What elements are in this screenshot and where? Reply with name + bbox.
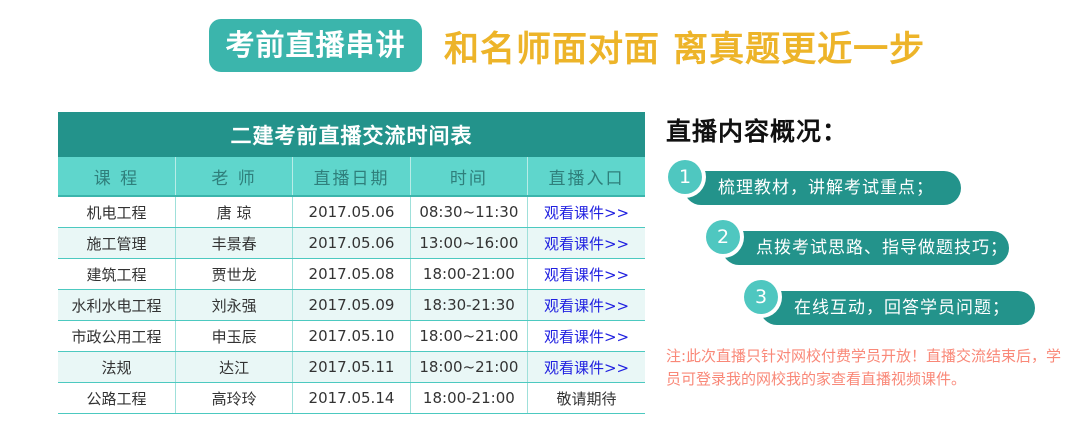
bubble-number-1: 1 [668,160,702,194]
header-banner: 考前直播串讲 和名师面对面 离真题更近一步 [0,0,1090,95]
watch-courseware-link[interactable]: 观看课件>> [544,204,629,222]
row-cell-teacher: 丰景春 [175,228,292,259]
row-cell-course: 机电工程 [58,196,175,228]
column-header-time: 时间 [410,157,527,196]
row-cell-teacher: 唐 琼 [175,196,292,228]
row-cell-date: 2017.05.09 [293,290,410,321]
live-content-panel: 直播内容概况： 1 梳理教材，讲解考试重点； 2 点拨考试思路、指导做题技巧； … [664,108,1084,408]
row-cell-time: 18:00~21:00 [410,352,527,383]
row-cell-teacher: 贾世龙 [175,259,292,290]
row-cell-teacher: 高玲玲 [175,383,292,414]
row-cell-date: 2017.05.11 [293,352,410,383]
row-cell-teacher: 申玉辰 [175,321,292,352]
live-schedule-table: 二建考前直播交流时间表 课 程 老 师 直播日期 时间 直播入口 机电工程唐 琼… [58,112,645,414]
table-title: 二建考前直播交流时间表 [58,112,645,157]
row-cell-time: 18:00~21:00 [410,321,527,352]
bubble-text-1: 梳理教材，讲解考试重点； [718,171,934,205]
row-cell-entrance: 敬请期待 [528,383,645,414]
row-cell-date: 2017.05.06 [293,196,410,228]
row-cell-teacher: 刘永强 [175,290,292,321]
row-cell-date: 2017.05.10 [293,321,410,352]
bubble-text-3: 在线互动，回答学员问题； [794,291,1010,325]
bubble-text-2: 点拨考试思路、指导做题技巧； [756,231,1008,265]
table-header-row: 课 程 老 师 直播日期 时间 直播入口 [58,157,645,196]
row-cell-date: 2017.05.06 [293,228,410,259]
row-cell-date: 2017.05.08 [293,259,410,290]
row-cell-time: 13:00~16:00 [410,228,527,259]
header-badge-label: 考前直播串讲 [225,31,405,60]
row-cell-entrance[interactable]: 观看课件>> [528,259,645,290]
row-cell-date: 2017.05.14 [293,383,410,414]
table-row: 建筑工程贾世龙2017.05.0818:00-21:00观看课件>> [58,259,645,290]
row-cell-entrance[interactable]: 观看课件>> [528,321,645,352]
table-body: 机电工程唐 琼2017.05.0608:30~11:30观看课件>>施工管理丰景… [58,196,645,414]
table-row: 施工管理丰景春2017.05.0613:00~16:00观看课件>> [58,228,645,259]
table-row: 法规达江2017.05.1118:00~21:00观看课件>> [58,352,645,383]
row-cell-time: 08:30~11:30 [410,196,527,228]
row-cell-entrance[interactable]: 观看课件>> [528,290,645,321]
row-cell-time: 18:30-21:30 [410,290,527,321]
bubble-number-3: 3 [744,280,778,314]
row-cell-teacher: 达江 [175,352,292,383]
watch-courseware-link[interactable]: 观看课件>> [544,359,629,377]
column-header-entrance: 直播入口 [528,157,645,196]
watch-courseware-link[interactable]: 观看课件>> [544,266,629,284]
watch-courseware-link[interactable]: 观看课件>> [544,297,629,315]
row-cell-time: 18:00-21:00 [410,383,527,414]
row-cell-entrance[interactable]: 观看课件>> [528,196,645,228]
row-cell-course: 法规 [58,352,175,383]
panel-note: 注:此次直播只针对网校付费学员开放！直播交流结束后，学员可登录我的网校我的家查看… [666,345,1064,391]
header-badge: 考前直播串讲 [209,19,422,72]
watch-courseware-link[interactable]: 观看课件>> [544,328,629,346]
row-cell-time: 18:00-21:00 [410,259,527,290]
watch-courseware-link[interactable]: 观看课件>> [544,235,629,253]
table-title-head: 二建考前直播交流时间表 [58,112,645,157]
row-cell-entrance[interactable]: 观看课件>> [528,228,645,259]
table-row: 公路工程高玲玲2017.05.1418:00-21:00敬请期待 [58,383,645,414]
table-title-row: 二建考前直播交流时间表 [58,112,645,157]
column-header-date: 直播日期 [293,157,410,196]
panel-title: 直播内容概况： [666,112,848,148]
bubble-number-2: 2 [706,220,740,254]
table-row: 机电工程唐 琼2017.05.0608:30~11:30观看课件>> [58,196,645,228]
row-cell-course: 市政公用工程 [58,321,175,352]
column-header-course: 课 程 [58,157,175,196]
row-cell-course: 公路工程 [58,383,175,414]
column-header-teacher: 老 师 [175,157,292,196]
row-cell-entrance[interactable]: 观看课件>> [528,352,645,383]
table-row: 水利水电工程刘永强2017.05.0918:30-21:30观看课件>> [58,290,645,321]
row-cell-course: 建筑工程 [58,259,175,290]
table-row: 市政公用工程申玉辰2017.05.1018:00~21:00观看课件>> [58,321,645,352]
header-slogan: 和名师面对面 离真题更近一步 [444,20,925,72]
row-cell-course: 施工管理 [58,228,175,259]
table-column-head: 课 程 老 师 直播日期 时间 直播入口 [58,157,645,196]
row-cell-course: 水利水电工程 [58,290,175,321]
